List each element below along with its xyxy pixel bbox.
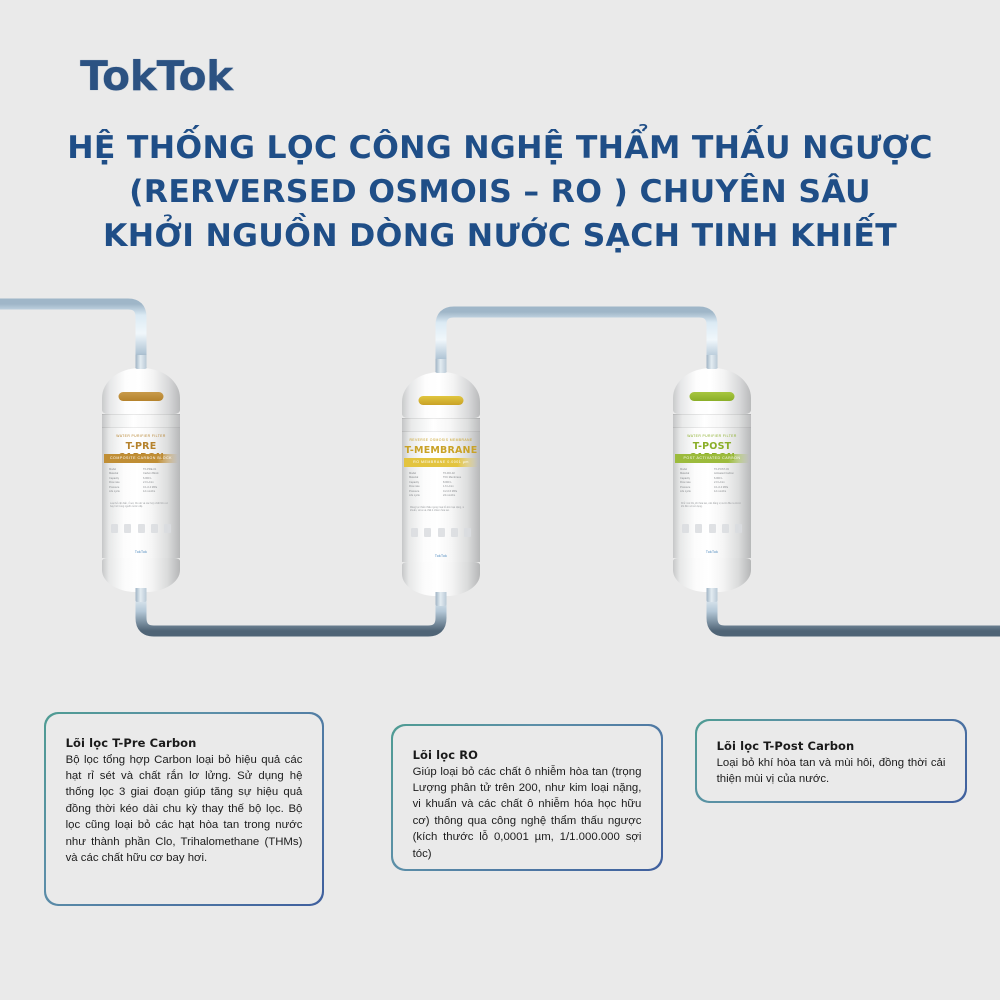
cartridge-cap-badge [419,396,464,405]
cartridge-spec-cell: 2.0 L/min [714,481,744,484]
info-box-title: Lõi lọc T-Pre Carbon [66,736,303,750]
cartridge-outlet-stub [136,588,147,602]
cartridge-cap [673,368,751,414]
pipe-filter1-to-filter2 [141,566,441,631]
info-box-text: Giúp loại bỏ các chất ô nhiễm hòa tan (t… [413,764,642,862]
cartridge-spec-table: ModelTK-PRE-01MaterialCarbon BlockCapaci… [109,468,173,493]
filter-cartridge-t-pre-carbon: WATER PURIFIER FILTER T-PRE CARBON COMPO… [102,368,180,592]
cartridge-spec-cell: 0.1-0.4 MPa [143,486,173,489]
cartridge-spec-cell: TK-PRE-01 [143,468,173,471]
cartridge-brandmark: TokTok [435,554,447,558]
cartridge-spec-cell: 12 months [143,490,173,493]
cartridge-body: WATER PURIFIER FILTER T-PRE CARBON COMPO… [102,428,180,558]
cartridge-spec-cell: Capacity [409,481,439,484]
cartridge-spec-cell: Carbon Block [143,472,173,475]
pipe-inlet [0,304,141,374]
cartridge-spec-cell: 1.6 L/min [443,485,473,488]
cartridge-label-sub: WATER PURIFIER FILTER [108,434,174,438]
cartridge-brandmark: TokTok [135,550,147,554]
cartridge-spec-cell: Model [409,472,439,475]
cartridge-spec-cell: Life cycle [109,490,139,493]
filter-cartridge-t-membrane: REVERSE OSMOSIS MEMBRANE T-MEMBRANE RO M… [402,372,480,596]
cartridge-spec-cell: Pressure [109,486,139,489]
page-title-line-3: KHỞI NGUỒN DÒNG NƯỚC SẠCH TINH KHIẾT [0,214,1000,258]
cartridge-spec-cell: Life cycle [680,490,710,493]
cartridge-spec-cell: Material [109,472,139,475]
cartridge-inlet-stub [707,355,718,369]
cartridge-cap-badge [119,392,164,401]
cartridge-cap-badge [690,392,735,401]
cartridge-spec-cell: 6.000 L [714,477,744,480]
cartridge-icon-row [111,524,171,533]
cartridge-spec-cell: Life cycle [409,494,439,497]
cartridge-outlet-stub [436,592,447,606]
cartridge-spec-cell: Pressure [680,486,710,489]
info-box-t-pre-carbon: Lõi lọc T-Pre Carbon Bộ lọc tổng hợp Car… [44,712,324,906]
cartridge-spec-cell: Material [680,472,710,475]
cartridge-label-band: POST ACTIVATED CARBON [675,454,749,463]
cartridge-inlet-stub [136,355,147,369]
cartridge-collar [102,414,180,428]
page-title: HỆ THỐNG LỌC CÔNG NGHỆ THẨM THẤU NGƯỢC (… [0,126,1000,258]
cartridge-spec-cell: Pressure [409,490,439,493]
info-box-text: Bộ lọc tổng hợp Carbon loại bỏ hiệu quả … [66,752,303,867]
pipe-filter2-to-filter3 [441,312,712,378]
cartridge-inlet-stub [436,359,447,373]
page-title-line-1: HỆ THỐNG LỌC CÔNG NGHỆ THẨM THẤU NGƯỢC [0,126,1000,170]
page-title-line-2: (RERVERSED OSMOIS – RO ) CHUYÊN SÂU [0,170,1000,214]
cartridge-spec-note: Màng lọc thẩm thấu ngược loại bỏ kim loạ… [410,506,472,512]
cartridge-icon-row [411,528,471,537]
cartridge-spec-cell: 0.2-0.6 MPa [443,490,473,493]
cartridge-spec-table: ModelTK-POST-03MaterialActivated CarbonC… [680,468,744,493]
cartridge-spec-cell: Model [109,468,139,471]
cartridge-label-main: T-MEMBRANE [402,445,480,456]
cartridge-icon-row [682,524,742,533]
cartridge-base [402,562,480,596]
filter-cartridge-t-post-carbon: WATER PURIFIER FILTER T-POST CARBON POST… [673,368,751,592]
cartridge-spec-note: Loại bỏ cặn bẩn, rỉ sét, Clo dư và các h… [110,502,172,508]
cartridge-spec-cell: Flow rate [409,485,439,488]
info-box-text: Loại bỏ khí hòa tan và mùi hôi, đồng thờ… [717,755,946,788]
cartridge-spec-cell: TK-POST-03 [714,468,744,471]
cartridge-outlet-stub [707,588,718,602]
cartridge-spec-cell: TK-RO-02 [443,472,473,475]
cartridge-spec-cell: 24 months [443,494,473,497]
cartridge-cap [102,368,180,414]
cartridge-spec-cell: Capacity [109,477,139,480]
cartridge-cap [402,372,480,418]
cartridge-spec-cell: 0.1-0.4 MPa [714,486,744,489]
cartridge-collar [673,414,751,428]
cartridge-spec-cell: Flow rate [680,481,710,484]
cartridge-spec-cell: 8.000 L [443,481,473,484]
brand-logo: TokTok [80,52,233,100]
cartridge-label-sub: REVERSE OSMOSIS MEMBRANE [408,438,474,442]
cartridge-label-sub: WATER PURIFIER FILTER [679,434,745,438]
cartridge-spec-note: Khử mùi hôi, khí hòa tan, cân bằng vị nư… [681,502,743,508]
cartridge-base [102,558,180,592]
pipe-outlet [712,566,1000,631]
cartridge-collar [402,418,480,432]
cartridge-spec-cell: Capacity [680,477,710,480]
cartridge-brandmark: TokTok [706,550,718,554]
info-box-title: Lõi lọc RO [413,748,642,762]
cartridge-base [673,558,751,592]
info-box-title: Lõi lọc T-Post Carbon [717,739,946,753]
cartridge-spec-cell: 2.0 L/min [143,481,173,484]
cartridge-body: WATER PURIFIER FILTER T-POST CARBON POST… [673,428,751,558]
cartridge-spec-cell: Material [409,476,439,479]
cartridge-spec-cell: Model [680,468,710,471]
info-box-ro: Lõi lọc RO Giúp loại bỏ các chất ô nhiễm… [391,724,663,871]
cartridge-spec-cell: Flow rate [109,481,139,484]
cartridge-spec-cell: 12 months [714,490,744,493]
cartridge-spec-cell: Activated Carbon [714,472,744,475]
info-box-t-post-carbon: Lõi lọc T-Post Carbon Loại bỏ khí hòa ta… [695,719,967,803]
cartridge-label-band: RO MEMBRANE 0.0001 µm [404,458,478,467]
cartridge-spec-cell: 6.000 L [143,477,173,480]
cartridge-body: REVERSE OSMOSIS MEMBRANE T-MEMBRANE RO M… [402,432,480,562]
cartridge-spec-cell: TFC Membrane [443,476,473,479]
cartridge-spec-table: ModelTK-RO-02MaterialTFC MembraneCapacit… [409,472,473,497]
cartridge-label-band: COMPOSITE CARBON BLOCK [104,454,178,463]
